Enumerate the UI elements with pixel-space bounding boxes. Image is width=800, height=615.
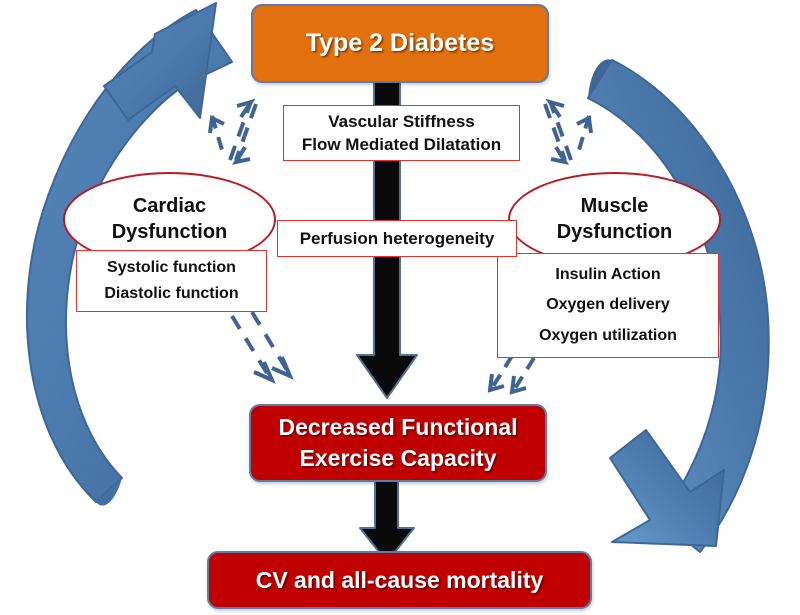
node-cardiac-details-line-1: Systolic function <box>107 259 236 278</box>
dashed-bidirectional-vascular-cardiac-icon <box>210 102 256 162</box>
node-decreased-functional-exercise-capacity[interactable]: Decreased Functional Exercise Capacity <box>249 404 547 482</box>
black-mortality-arrow-icon <box>360 480 414 562</box>
node-cardiac-dysfunction-line-2: Dysfunction <box>112 221 228 244</box>
dashed-muscle-to-capacity-icon <box>490 356 534 392</box>
node-type-2-diabetes-label: Type 2 Diabetes <box>306 29 495 58</box>
node-decreased-capacity-line-1: Decreased Functional <box>278 414 517 441</box>
dashed-cardiac-to-capacity-icon <box>232 312 290 380</box>
node-cv-and-all-cause-mortality[interactable]: CV and all-cause mortality <box>207 551 592 609</box>
node-vascular-line-1: Vascular Stiffness <box>328 112 474 132</box>
dashed-bidirectional-vascular-muscle-icon <box>545 102 591 162</box>
node-cv-mortality-label: CV and all-cause mortality <box>256 567 544 594</box>
node-muscle-details[interactable]: Insulin Action Oxygen delivery Oxygen ut… <box>497 253 719 358</box>
node-muscle-details-line-1: Insulin Action <box>555 266 660 285</box>
node-cardiac-dysfunction-line-1: Cardiac <box>133 195 206 218</box>
node-muscle-dysfunction-line-1: Muscle <box>581 195 649 218</box>
node-vascular-line-2: Flow Mediated Dilatation <box>302 135 501 155</box>
diagram-canvas: Type 2 Diabetes Vascular Stiffness Flow … <box>0 0 800 615</box>
node-vascular-stiffness[interactable]: Vascular Stiffness Flow Mediated Dilatat… <box>283 105 520 161</box>
node-perfusion-heterogeneity[interactable]: Perfusion heterogeneity <box>277 220 517 257</box>
node-muscle-details-line-3: Oxygen utilization <box>539 327 677 346</box>
node-decreased-capacity-line-2: Exercise Capacity <box>300 445 497 472</box>
node-type-2-diabetes[interactable]: Type 2 Diabetes <box>251 4 549 83</box>
node-cardiac-details[interactable]: Systolic function Diastolic function <box>76 250 267 312</box>
node-cardiac-details-line-2: Diastolic function <box>104 285 238 304</box>
node-muscle-details-line-2: Oxygen delivery <box>546 296 670 315</box>
node-muscle-dysfunction-line-2: Dysfunction <box>557 221 673 244</box>
node-perfusion-heterogeneity-label: Perfusion heterogeneity <box>300 229 495 249</box>
